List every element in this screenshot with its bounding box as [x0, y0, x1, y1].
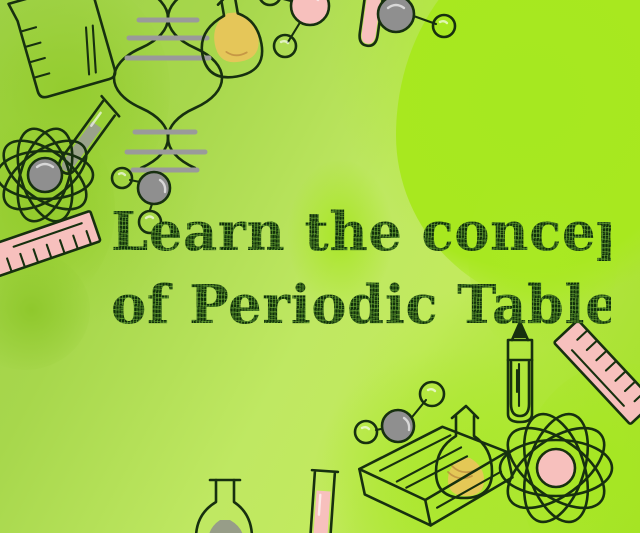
book-icon	[354, 415, 518, 533]
beaker-icon	[9, 0, 121, 100]
background-blob-left	[0, 110, 115, 310]
atom-pink-icon	[494, 406, 618, 530]
ruler-pink-left-icon	[0, 211, 101, 276]
poster-canvas: .ink { fill:none; stroke:#17300f; stroke…	[0, 0, 640, 533]
test-tube-gray-icon	[52, 96, 122, 179]
headline-line-1: Learn the concept	[111, 196, 611, 269]
molecule-pink-icon	[259, 0, 329, 57]
test-tube-pink-icon	[356, 0, 388, 47]
round-flask-yellow-bottom-icon	[436, 406, 492, 498]
molecule-gray-top-icon	[378, 0, 455, 37]
atom-gray-icon	[0, 122, 98, 228]
dna-helix-icon	[114, 0, 222, 170]
background-blob-top-left	[0, 0, 170, 210]
page-title: Learn the concept of Periodic Table	[111, 196, 611, 342]
test-tube-pink-bottom-icon	[307, 470, 338, 533]
background-blob-bottom-right	[300, 340, 600, 533]
headline-line-2: of Periodic Table	[111, 269, 611, 342]
background-blob-bottom-left	[0, 250, 90, 370]
molecule-gray-bottom-icon	[355, 382, 444, 443]
test-tube-plain-icon	[508, 360, 532, 416]
flask-gray-icon	[196, 480, 252, 533]
round-flask-yellow-icon	[192, 0, 277, 82]
background-blob-corner-bottom-right	[520, 363, 640, 533]
